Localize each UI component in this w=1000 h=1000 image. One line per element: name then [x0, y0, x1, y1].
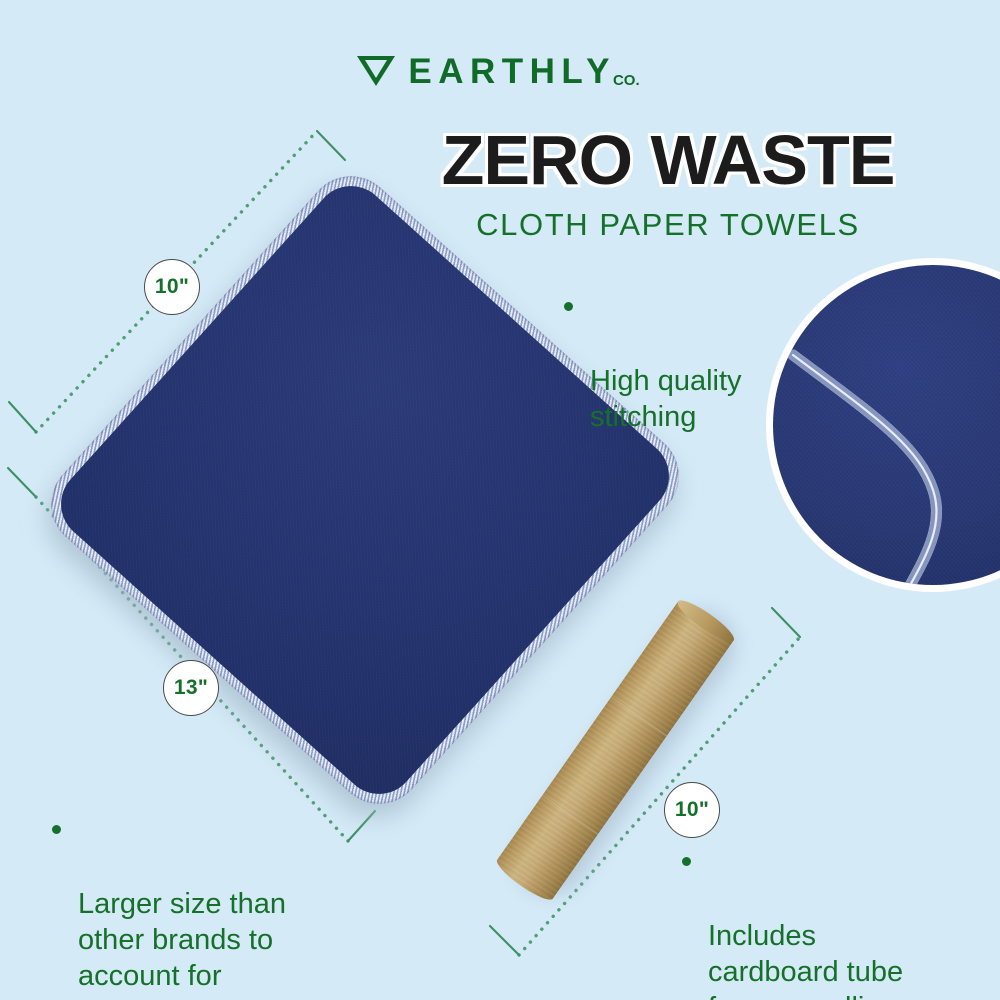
feature-bullet-cardboard-tube: Includes cardboard tube for easy rolling — [682, 846, 972, 1000]
dimension-badge-cloth-height: 13" — [163, 660, 219, 716]
page-subtitle: CLOTH PAPER TOWELS — [358, 207, 978, 243]
bullet-dot-icon — [564, 302, 573, 311]
triangle-down-icon — [357, 56, 395, 86]
bullet-dot-icon — [682, 857, 691, 866]
dimension-badge-tube-length: 10" — [664, 782, 720, 838]
page-title: ZERO WASTE — [358, 122, 978, 198]
bullet-dot-icon — [52, 825, 61, 834]
tube-end-cap — [673, 595, 738, 647]
feature-bullet-stitching: High quality stitching — [564, 291, 814, 471]
brand-logo: EARTHLYCO. — [0, 52, 1000, 92]
feature-bullet-text: Includes cardboard tube for easy rolling — [708, 918, 972, 1000]
brand-name: EARTHLY — [408, 52, 616, 92]
feature-bullet-larger-size: Larger size than other brands to account… — [52, 814, 352, 1000]
feature-bullet-text: High quality stitching — [590, 363, 814, 435]
dimension-badge-cloth-width: 10" — [144, 259, 200, 315]
feature-bullet-text: Larger size than other brands to account… — [78, 886, 352, 1000]
brand-suffix: CO. — [613, 72, 640, 89]
product-infographic: EARTHLYCO. ZERO WASTE CLOTH PAPER TOWELS… — [0, 0, 1000, 1000]
cloth-fabric — [46, 171, 684, 809]
